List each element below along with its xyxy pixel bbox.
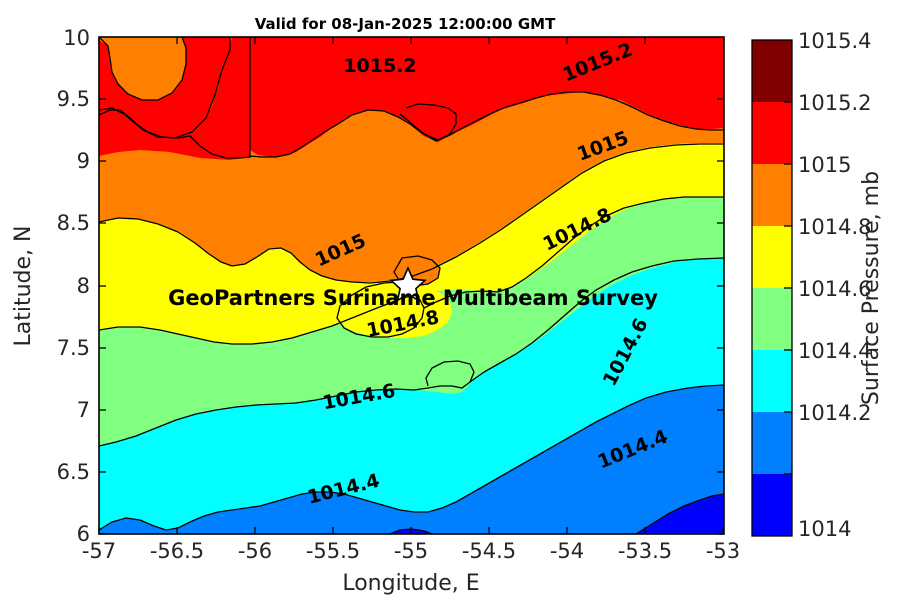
x-tick-label: -56 — [238, 539, 272, 563]
colorbar-swatch-1014p6 — [752, 288, 792, 350]
plot-title: Valid for 08-Jan-2025 12:00:00 GMT — [255, 15, 556, 33]
contour-plot-figure: 1015.2 1015.2 1015 1015 1014.8 1014.8 10… — [0, 0, 900, 600]
y-tick-label: 10 — [63, 26, 90, 50]
x-tick-label: -54 — [550, 539, 584, 563]
y-tick-label: 7 — [77, 398, 90, 422]
y-tick-label: 6 — [77, 522, 90, 546]
colorbar-swatch-1014 — [752, 474, 792, 536]
colorbar-swatch-1014p8 — [752, 226, 792, 288]
plot-area: 1015.2 1015.2 1015 1015 1014.8 1014.8 10… — [99, 37, 724, 534]
y-tick-label: 8.5 — [57, 211, 90, 235]
x-axis-label: Longitude, E — [342, 571, 479, 596]
site-annotation-label: GeoPartners Suriname Multibeam Survey — [168, 286, 658, 310]
colorbar-swatch-1014p4 — [752, 350, 792, 412]
y-tick-label: 9 — [77, 149, 90, 173]
y-tick-label: 6.5 — [57, 460, 90, 484]
x-tick-label: -54.5 — [462, 539, 516, 563]
y-tick-label: 7.5 — [57, 336, 90, 360]
x-tick-label: -55 — [394, 539, 428, 563]
figure-svg: 1015.2 1015.2 1015 1015 1014.8 1014.8 10… — [0, 0, 900, 600]
y-tick-label: 9.5 — [57, 87, 90, 111]
colorbar-tick-label: 1014 — [798, 517, 851, 541]
colorbar-tick-label: 1015 — [798, 153, 851, 177]
y-axis-label: Latitude, N — [11, 226, 36, 347]
colorbar-swatch-1015p4 — [752, 40, 792, 102]
colorbar-swatch-1015 — [752, 164, 792, 226]
colorbar-swatch-1015p2 — [752, 102, 792, 164]
contour-label: 1015.2 — [343, 55, 416, 77]
colorbar-swatch-1014p2 — [752, 412, 792, 474]
colorbar-tick-label: 1015.2 — [798, 91, 871, 115]
x-tick-label: -53 — [706, 539, 740, 563]
x-tick-label: -56.5 — [150, 539, 204, 563]
x-tick-label: -55.5 — [306, 539, 360, 563]
colorbar-axis-label: Surface Pressure, mb — [859, 171, 884, 405]
x-tick-label: -53.5 — [618, 539, 672, 563]
x-tick-labels: -57 -56.5 -56 -55.5 -55 -54.5 -54 -53.5 … — [82, 539, 740, 563]
colorbar-tick-label: 1015.4 — [798, 29, 871, 53]
y-tick-label: 8 — [77, 274, 90, 298]
